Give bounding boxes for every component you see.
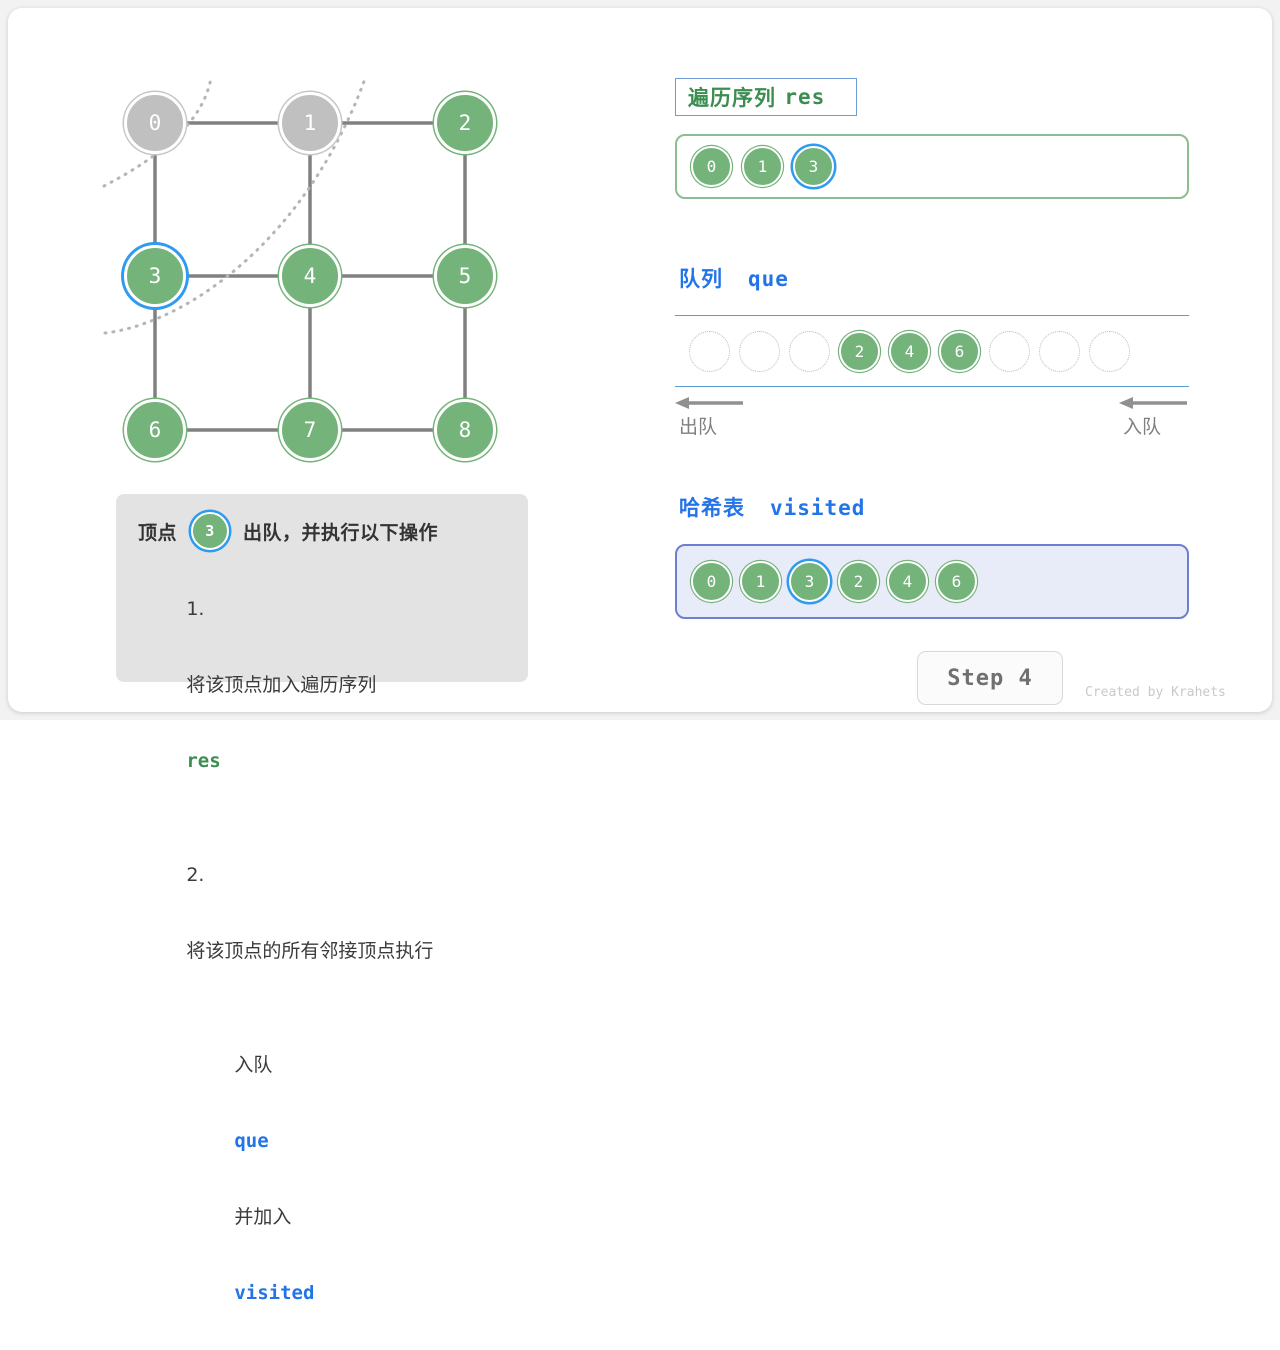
caption-line-2-cont: 入队 que 并加入 visited	[138, 1008, 508, 1350]
graph-diagram: 012345678	[8, 8, 628, 508]
graph-node-3[interactable]: 3	[124, 245, 186, 307]
visited-item-2: 3	[789, 561, 830, 602]
caption-line-2-num: 2.	[186, 864, 204, 886]
res-item-2: 3	[793, 146, 834, 187]
caption-line-1-text: 将该顶点加入遍历序列	[186, 674, 376, 696]
page-background: 012345678 顶点 3 出队，并执行以下操作 1. 将该顶点加入遍历序列 …	[0, 0, 1280, 720]
queue-title-code: que	[748, 267, 789, 291]
enqueue-label: 入队	[1123, 412, 1161, 439]
queue-title-cn: 队列	[679, 267, 723, 291]
graph-node-1[interactable]: 1	[279, 92, 341, 154]
caption-code-que: que	[234, 1130, 268, 1152]
res-item-1: 1	[742, 146, 783, 187]
res-title-cn: 遍历序列	[688, 82, 776, 112]
res-title-code: res	[784, 85, 825, 109]
graph-node-4[interactable]: 4	[279, 245, 341, 307]
graph-node-8[interactable]: 8	[434, 399, 496, 461]
visited-title-cn: 哈希表	[679, 496, 745, 520]
visited-title: 哈希表 visited	[679, 492, 865, 522]
caption-line-2-cont-text: 入队	[234, 1054, 272, 1076]
caption-line-2: 2. 将该顶点的所有邻接顶点执行	[138, 818, 508, 1008]
graph-node-0[interactable]: 0	[124, 92, 186, 154]
caption-line-2-text: 将该顶点的所有邻接顶点执行	[186, 940, 433, 962]
caption-vertex-chip: 3	[191, 512, 229, 550]
graph-node-6[interactable]: 6	[124, 399, 186, 461]
caption-line-1-code: res	[186, 750, 220, 772]
dequeue-arrow-icon	[675, 394, 745, 412]
queue-slot-0	[689, 331, 730, 372]
graph-node-7[interactable]: 7	[279, 399, 341, 461]
caption-head-suffix: 出队，并执行以下操作	[243, 518, 438, 545]
graph-node-5[interactable]: 5	[434, 245, 496, 307]
queue-slot-7	[1039, 331, 1080, 372]
queue-slot-3: 2	[839, 331, 880, 372]
queue-slot-4: 4	[889, 331, 930, 372]
caption-box: 顶点 3 出队，并执行以下操作 1. 将该顶点加入遍历序列 res 2. 将该顶…	[116, 494, 528, 682]
queue-slot-8	[1089, 331, 1130, 372]
caption-line-2-cont-mid: 并加入	[234, 1206, 291, 1228]
credit-text: Created by Krahets	[1085, 685, 1226, 700]
res-container: 013	[675, 134, 1189, 199]
step-badge: Step 4	[917, 651, 1063, 705]
queue-arrows: 出队 入队	[675, 394, 1189, 452]
caption-code-visited: visited	[234, 1282, 314, 1304]
caption-line-1-num: 1.	[186, 598, 204, 620]
queue-title: 队列 que	[679, 263, 789, 293]
visited-item-1: 1	[740, 561, 781, 602]
res-item-0: 0	[691, 146, 732, 187]
visited-item-4: 4	[887, 561, 928, 602]
visited-item-0: 0	[691, 561, 732, 602]
caption-line-1: 1. 将该顶点加入遍历序列 res	[138, 552, 508, 818]
dequeue-label: 出队	[679, 412, 717, 439]
queue-slot-6	[989, 331, 1030, 372]
visited-title-code: visited	[770, 496, 866, 520]
queue-slot-2	[789, 331, 830, 372]
queue-slot-1	[739, 331, 780, 372]
visited-container: 013246	[675, 544, 1189, 619]
queue-slot-5: 6	[939, 331, 980, 372]
queue-container: 246	[675, 315, 1189, 387]
caption-headline: 顶点 3 出队，并执行以下操作	[138, 510, 508, 552]
visited-item-3: 2	[838, 561, 879, 602]
visited-item-5: 6	[936, 561, 977, 602]
enqueue-arrow-icon	[1119, 394, 1189, 412]
graph-node-2[interactable]: 2	[434, 92, 496, 154]
res-title: 遍历序列 res	[675, 78, 857, 116]
caption-head-prefix: 顶点	[138, 518, 177, 545]
content-card: 012345678 顶点 3 出队，并执行以下操作 1. 将该顶点加入遍历序列 …	[8, 8, 1272, 712]
